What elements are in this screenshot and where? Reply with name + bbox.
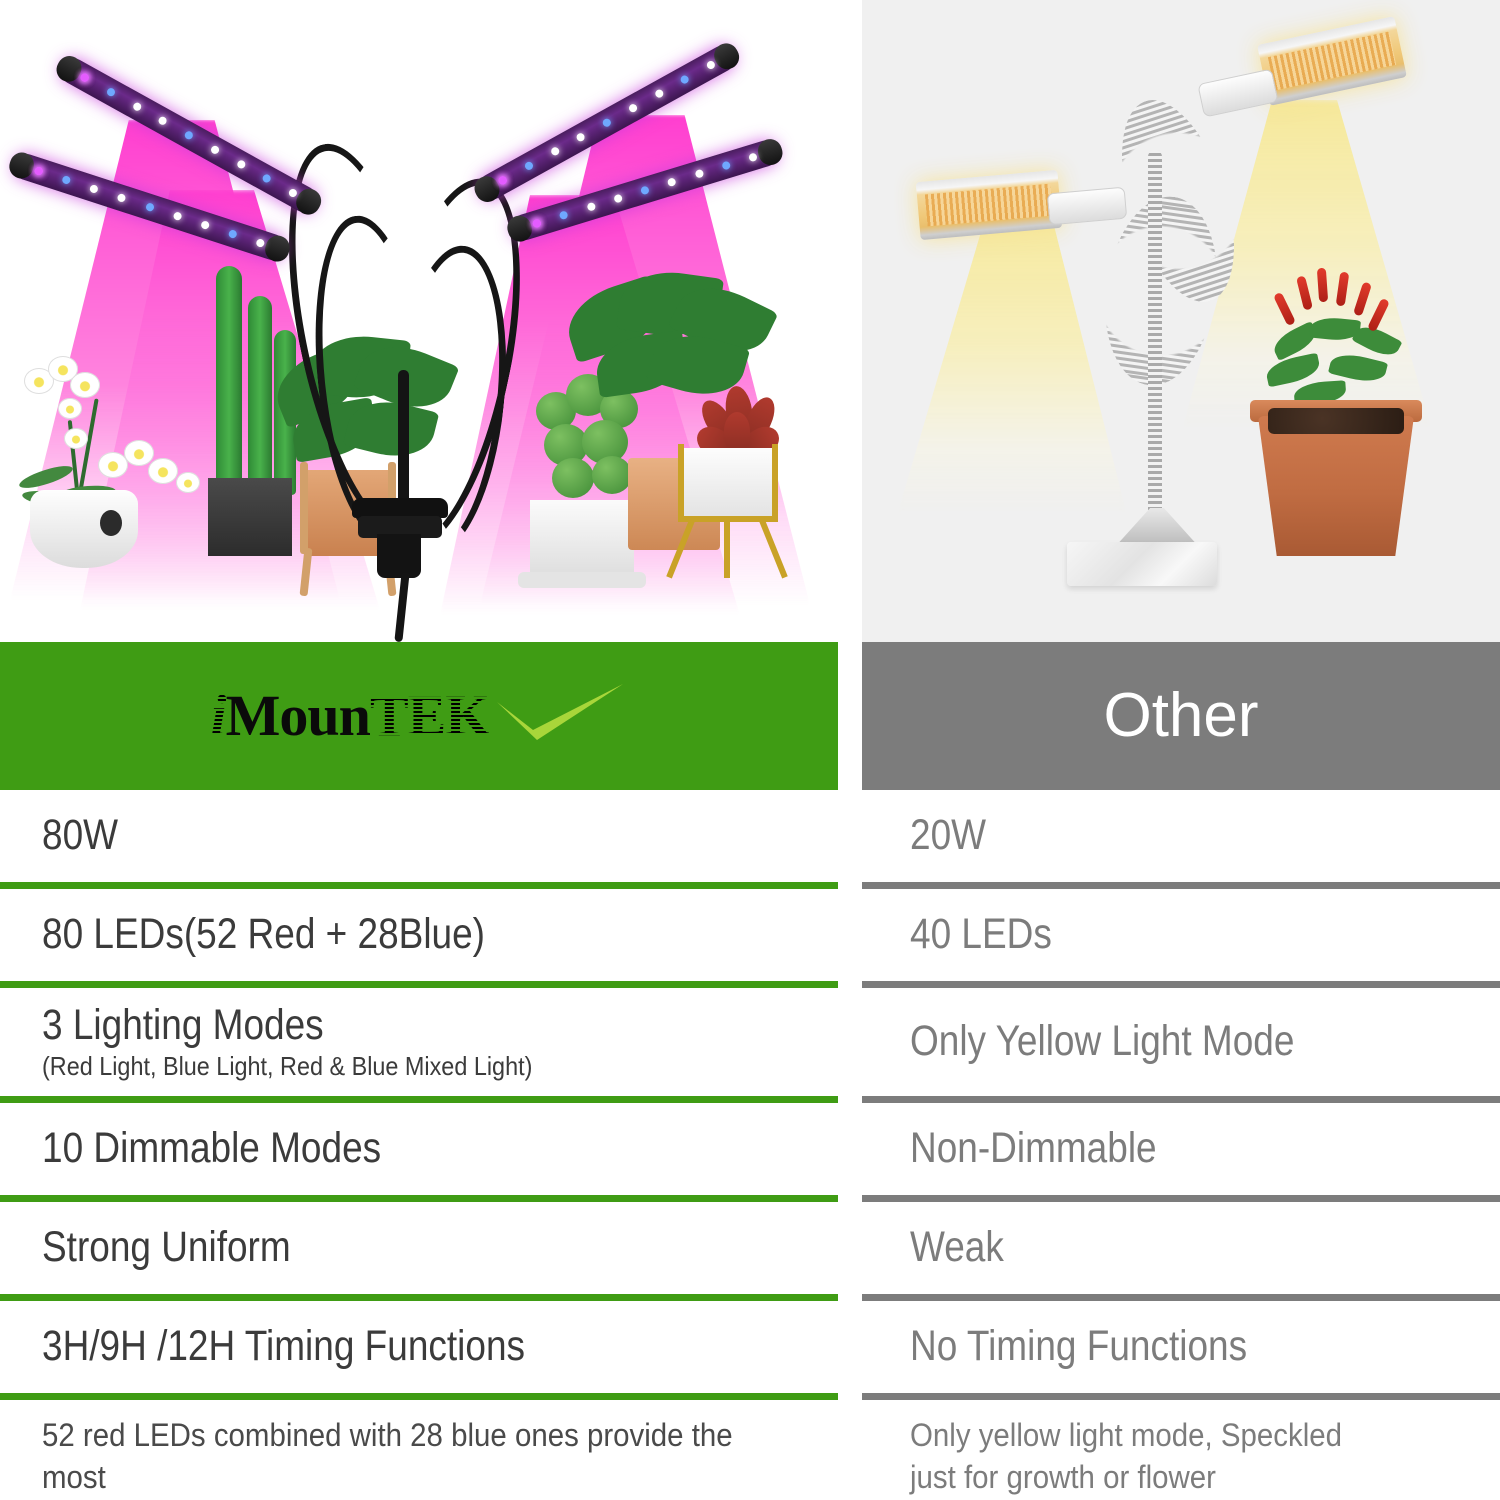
feature-title: No Timing Functions xyxy=(910,1324,1417,1369)
brand-header-imountek: i Moun TEK xyxy=(0,642,838,790)
brand-logo-suffix: TEK xyxy=(370,687,490,745)
feature-row: 3 Lighting Modes (Red Light, Blue Light,… xyxy=(0,988,838,1096)
feature-title: 3H/9H /12H Timing Functions xyxy=(42,1324,727,1369)
feature-row: Non-Dimmable xyxy=(862,1103,1500,1195)
light-beam-yellow xyxy=(897,205,1127,515)
pot-dark-cactus xyxy=(208,478,292,556)
pot-terracotta-chili xyxy=(1258,416,1414,556)
lamp-socket xyxy=(1047,187,1127,226)
row-divider xyxy=(862,1393,1500,1400)
pot-white-orchid xyxy=(30,490,138,568)
other-header: Other xyxy=(862,642,1500,790)
brand-logo: i Moun TEK xyxy=(211,687,490,745)
pot-white-jade xyxy=(530,500,634,576)
row-divider xyxy=(862,1195,1500,1202)
feature-row: 10 Dimmable Modes xyxy=(0,1103,838,1195)
feature-row: Strong Uniform xyxy=(0,1202,838,1294)
feature-subtitle: (Red Light, Blue Light, Red & Blue Mixed… xyxy=(42,1052,758,1081)
description-block: 52 red LEDs combined with 28 blue ones p… xyxy=(0,1400,838,1500)
row-divider xyxy=(0,1294,838,1301)
pot-white-succulent xyxy=(680,448,776,520)
feature-title: 80W xyxy=(42,813,727,858)
row-divider xyxy=(862,981,1500,988)
feature-row: 3H/9H /12H Timing Functions xyxy=(0,1301,838,1393)
row-divider xyxy=(862,1096,1500,1103)
feature-row: Only Yellow Light Mode xyxy=(862,988,1500,1096)
feature-rows-left: 80W 80 LEDs(52 Red + 28Blue) 3 Lighting … xyxy=(0,790,838,1500)
led-panel-head xyxy=(916,170,1063,240)
lamp-socket xyxy=(1197,68,1278,117)
pot-tray xyxy=(518,572,646,588)
row-divider xyxy=(862,1294,1500,1301)
row-divider xyxy=(0,981,838,988)
feature-title: 10 Dimmable Modes xyxy=(42,1126,727,1171)
clamp-base xyxy=(377,534,421,578)
feature-row: 80W xyxy=(0,790,838,882)
comparison-table: i Moun TEK 80W 80 LED xyxy=(0,642,1500,1500)
lamp-pole-chrome xyxy=(1148,150,1162,540)
feature-row: 40 LEDs xyxy=(862,889,1500,981)
brand-logo-mid: Moun xyxy=(226,687,370,745)
feature-rows-right: 20W 40 LEDs Only Yellow Light Mode Non-D… xyxy=(862,790,1500,1498)
lamp-stem xyxy=(398,370,409,515)
column-imountek: i Moun TEK 80W 80 LED xyxy=(0,642,838,1500)
feature-row: 80 LEDs(52 Red + 28Blue) xyxy=(0,889,838,981)
row-divider xyxy=(0,1393,838,1400)
check-icon xyxy=(495,682,627,745)
feature-row: No Timing Functions xyxy=(862,1301,1500,1393)
left-product-photo xyxy=(0,0,838,642)
row-divider xyxy=(0,1096,838,1103)
feature-row: Weak xyxy=(862,1202,1500,1294)
product-images-band xyxy=(0,0,1500,642)
row-divider xyxy=(0,882,838,889)
row-divider xyxy=(0,1195,838,1202)
marble-base xyxy=(1067,542,1217,586)
feature-title: 40 LEDs xyxy=(910,912,1417,957)
description-line: 52 red LEDs combined with 28 blue ones p… xyxy=(42,1414,736,1498)
description-line: Only yellow light mode, Speckled xyxy=(910,1414,1434,1456)
row-divider xyxy=(862,882,1500,889)
description-line: just for growth or flower xyxy=(910,1456,1434,1498)
clamp-base xyxy=(352,498,448,518)
brand-logo-prefix: i xyxy=(211,687,226,745)
led-panel-head xyxy=(1257,16,1407,106)
feature-title: Only Yellow Light Mode xyxy=(910,1019,1417,1064)
description-block: Only yellow light mode, Speckled just fo… xyxy=(862,1400,1500,1498)
feature-title: Weak xyxy=(910,1225,1417,1270)
column-other: Other 20W 40 LEDs Only Yellow Light Mode… xyxy=(862,642,1500,1500)
feature-title: 80 LEDs(52 Red + 28Blue) xyxy=(42,912,727,957)
power-cord xyxy=(394,572,409,642)
feature-title: Non-Dimmable xyxy=(910,1126,1417,1171)
feature-title: 20W xyxy=(910,813,1417,858)
feature-title: Strong Uniform xyxy=(42,1225,727,1270)
comparison-infographic: i Moun TEK 80W 80 LED xyxy=(0,0,1500,1500)
other-title: Other xyxy=(1103,685,1258,747)
feature-title: 3 Lighting Modes xyxy=(42,1003,727,1048)
pot-soil xyxy=(1268,408,1404,434)
right-product-photo xyxy=(862,0,1500,642)
feature-row: 20W xyxy=(862,790,1500,882)
